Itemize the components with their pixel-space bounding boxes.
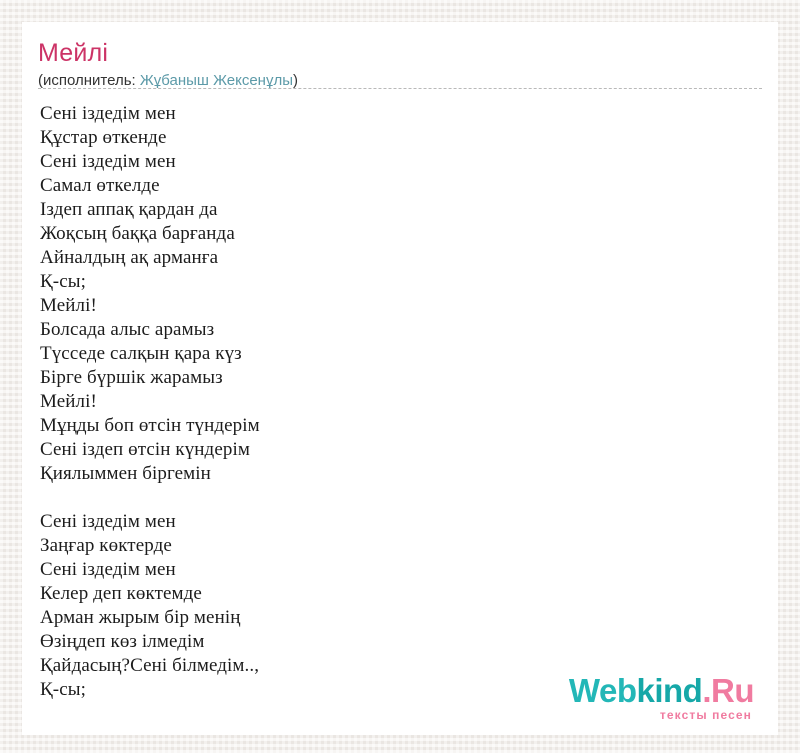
header-divider (38, 88, 762, 89)
artist-link[interactable]: Жұбаныш Жексенұлы (140, 72, 293, 89)
logo-ru-text: Ru (711, 672, 754, 709)
artist-paren-close: ) (293, 72, 298, 89)
logo-wordmark[interactable]: Webkind.Ru (569, 674, 754, 708)
lyrics-text: Сені іздедім мен Құстар өткенде Сені ізд… (40, 102, 760, 702)
logo-web-text: Web (569, 672, 637, 709)
logo-tagline: тексты песен (569, 709, 754, 721)
logo-kind-text: kind (636, 672, 702, 709)
content-card: Мейлі (исполнитель: Жұбаныш Жексенұлы) С… (22, 22, 778, 735)
page-title: Мейлі (38, 38, 762, 68)
song-header: Мейлі (исполнитель: Жұбаныш Жексенұлы) (38, 38, 762, 91)
artist-label: (исполнитель: (38, 72, 140, 89)
logo-dot-text: . (702, 672, 711, 709)
site-logo[interactable]: Webkind.Ru тексты песен (569, 674, 754, 721)
